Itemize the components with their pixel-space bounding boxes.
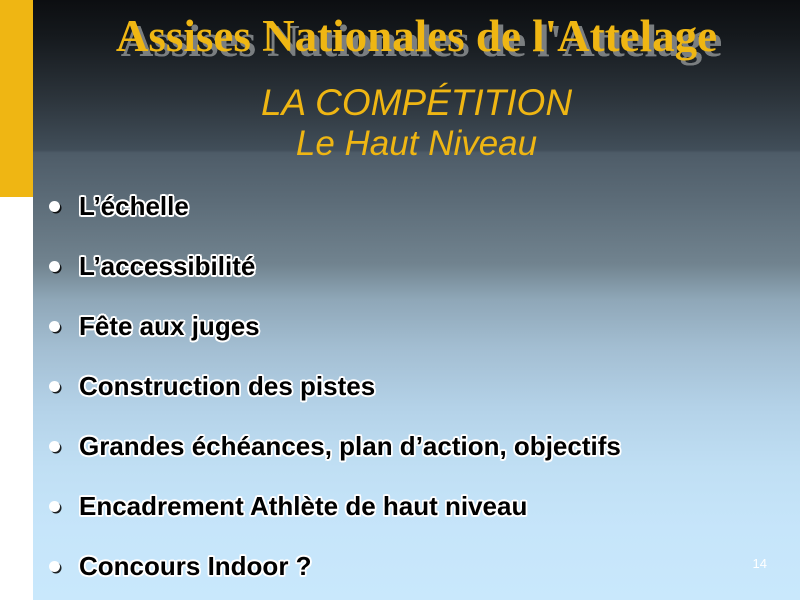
bullet-dot-icon — [49, 441, 60, 452]
list-item-label: Grandes échéances, plan d’action, object… — [79, 432, 621, 460]
list-item: Concours Indoor ? — [33, 536, 800, 596]
list-item-label: Fête aux juges — [79, 312, 260, 340]
bullet-dot-icon — [49, 201, 60, 212]
list-item: Construction des pistes — [33, 356, 800, 416]
bullet-list: L’échelle L’accessibilité Fête aux juges… — [33, 176, 800, 596]
list-item-label: L’échelle — [79, 192, 189, 220]
list-item: L’échelle — [33, 176, 800, 236]
subtitle-block: LA COMPÉTITION Le Haut Niveau — [33, 82, 800, 164]
bullet-dot-icon — [49, 501, 60, 512]
title-block: Assises Nationales de l'Attelage — [33, 10, 800, 62]
list-item: Fête aux juges — [33, 296, 800, 356]
slide-title: Assises Nationales de l'Attelage — [33, 10, 800, 62]
left-accent-bar — [0, 0, 33, 197]
bullet-dot-icon — [49, 321, 60, 332]
bullet-dot-icon — [49, 561, 60, 572]
left-side-strip — [0, 0, 33, 600]
list-item-label: L’accessibilité — [79, 252, 255, 280]
list-item-label: Construction des pistes — [79, 372, 375, 400]
list-item: Grandes échéances, plan d’action, object… — [33, 416, 800, 476]
subtitle-line-2: Le Haut Niveau — [33, 123, 800, 164]
list-item-label: Encadrement Athlète de haut niveau — [79, 492, 527, 520]
list-item: L’accessibilité — [33, 236, 800, 296]
list-item: Encadrement Athlète de haut niveau — [33, 476, 800, 536]
page-number: 14 — [753, 556, 767, 571]
bullet-dot-icon — [49, 261, 60, 272]
list-item-label: Concours Indoor ? — [79, 552, 312, 580]
presentation-slide: Assises Nationales de l'Attelage LA COMP… — [0, 0, 800, 600]
bullet-dot-icon — [49, 381, 60, 392]
subtitle-line-1: LA COMPÉTITION — [33, 82, 800, 123]
